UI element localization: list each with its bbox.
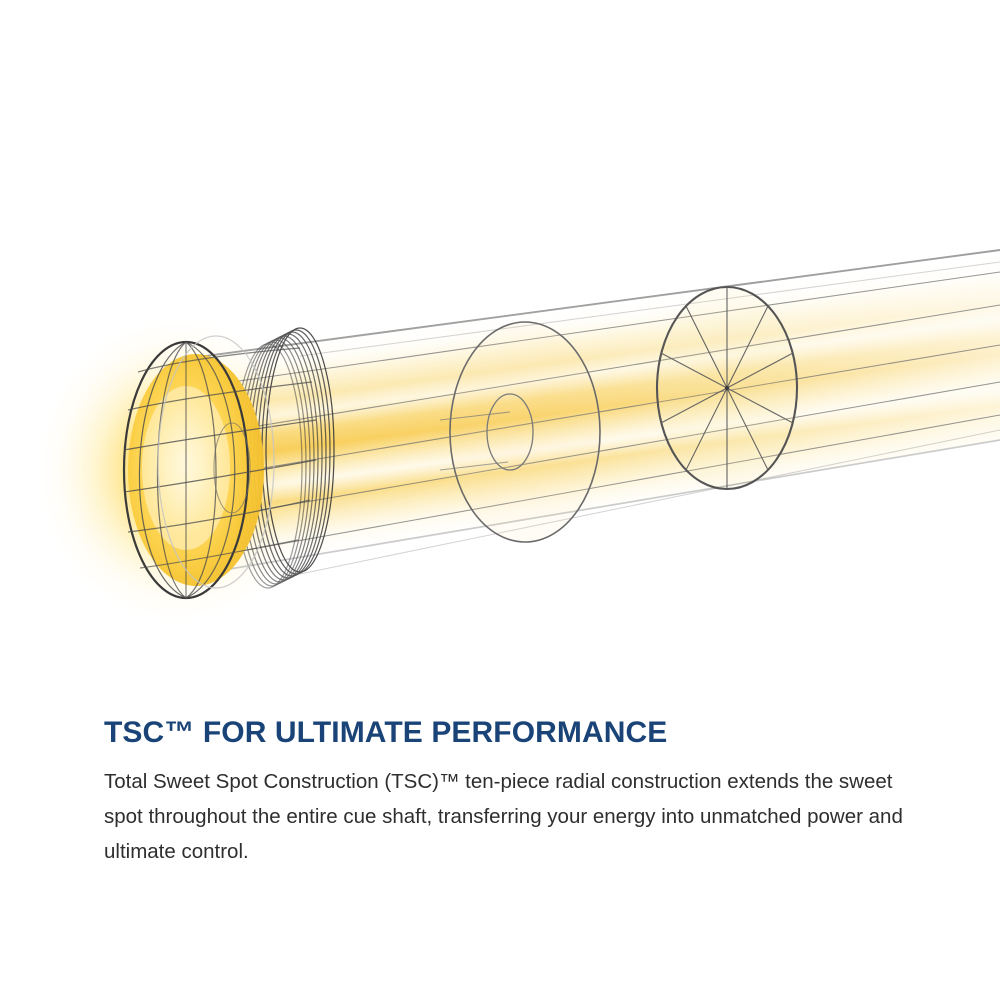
radial-wheel-disc bbox=[657, 287, 797, 489]
caption-block: TSC™ FOR ULTIMATE PERFORMANCE Total Swee… bbox=[104, 714, 904, 869]
cue-shaft-illustration bbox=[0, 0, 1000, 690]
cue-shaft-svg bbox=[0, 0, 1000, 690]
description-text: Total Sweet Spot Construction (TSC)™ ten… bbox=[104, 764, 904, 869]
page-title: TSC™ FOR ULTIMATE PERFORMANCE bbox=[104, 714, 904, 752]
